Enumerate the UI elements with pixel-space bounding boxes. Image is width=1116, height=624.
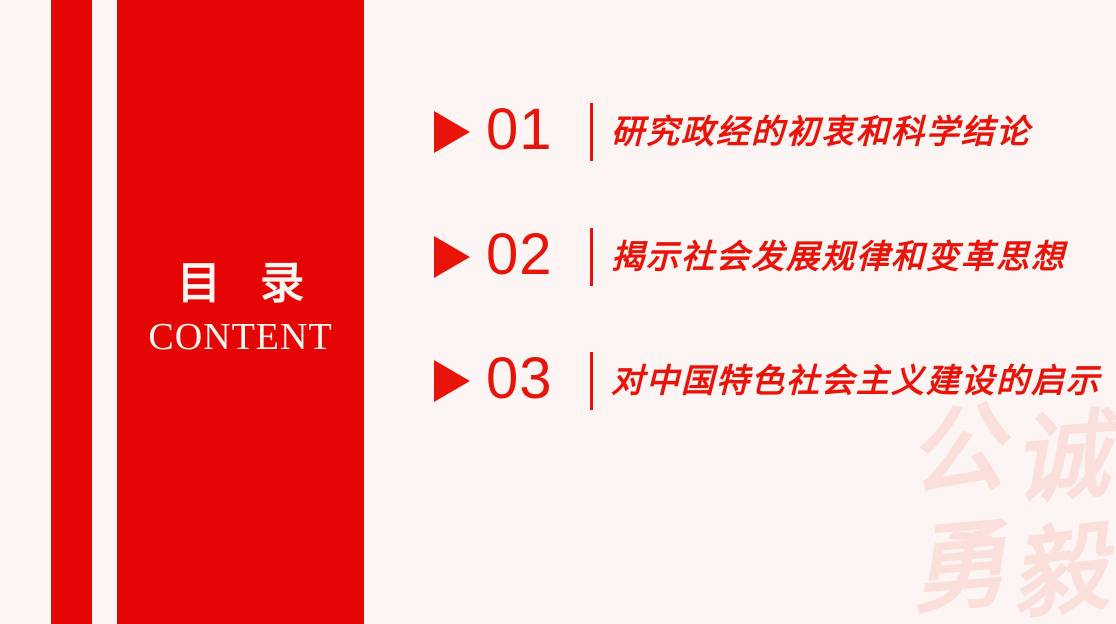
- play-triangle-icon: [432, 109, 472, 155]
- agenda-item-03[interactable]: 03 对中国特色社会主义建设的启示: [432, 345, 1101, 417]
- agenda-item-label: 揭示社会发展规律和变革思想: [611, 239, 1066, 275]
- agenda-item-number: 01: [486, 101, 590, 163]
- agenda-list: 01 研究政经的初衷和科学结论 02 揭示社会发展规律和变革思想 03 对中国特…: [432, 0, 1116, 624]
- agenda-item-label: 对中国特色社会主义建设的启示: [611, 363, 1101, 399]
- page-title-cn: 目 录: [117, 262, 364, 306]
- play-triangle-icon: [432, 234, 472, 280]
- decorative-bar-thin: [51, 0, 92, 624]
- content-slide: 目 录 CONTENT 公 诚 勇 毅 01 研究政经的初衷和科学结论: [0, 0, 1116, 624]
- agenda-item-divider: [590, 352, 593, 410]
- agenda-item-02[interactable]: 02 揭示社会发展规律和变革思想: [432, 221, 1066, 293]
- agenda-item-label: 研究政经的初衷和科学结论: [611, 114, 1031, 150]
- agenda-item-number: 02: [486, 226, 590, 288]
- agenda-item-01[interactable]: 01 研究政经的初衷和科学结论: [432, 96, 1031, 168]
- agenda-item-divider: [590, 103, 593, 161]
- agenda-item-divider: [590, 228, 593, 286]
- page-title-en: CONTENT: [117, 318, 364, 356]
- title-block: 目 录 CONTENT: [117, 262, 364, 356]
- play-triangle-icon: [432, 358, 472, 404]
- agenda-item-number: 03: [486, 350, 590, 412]
